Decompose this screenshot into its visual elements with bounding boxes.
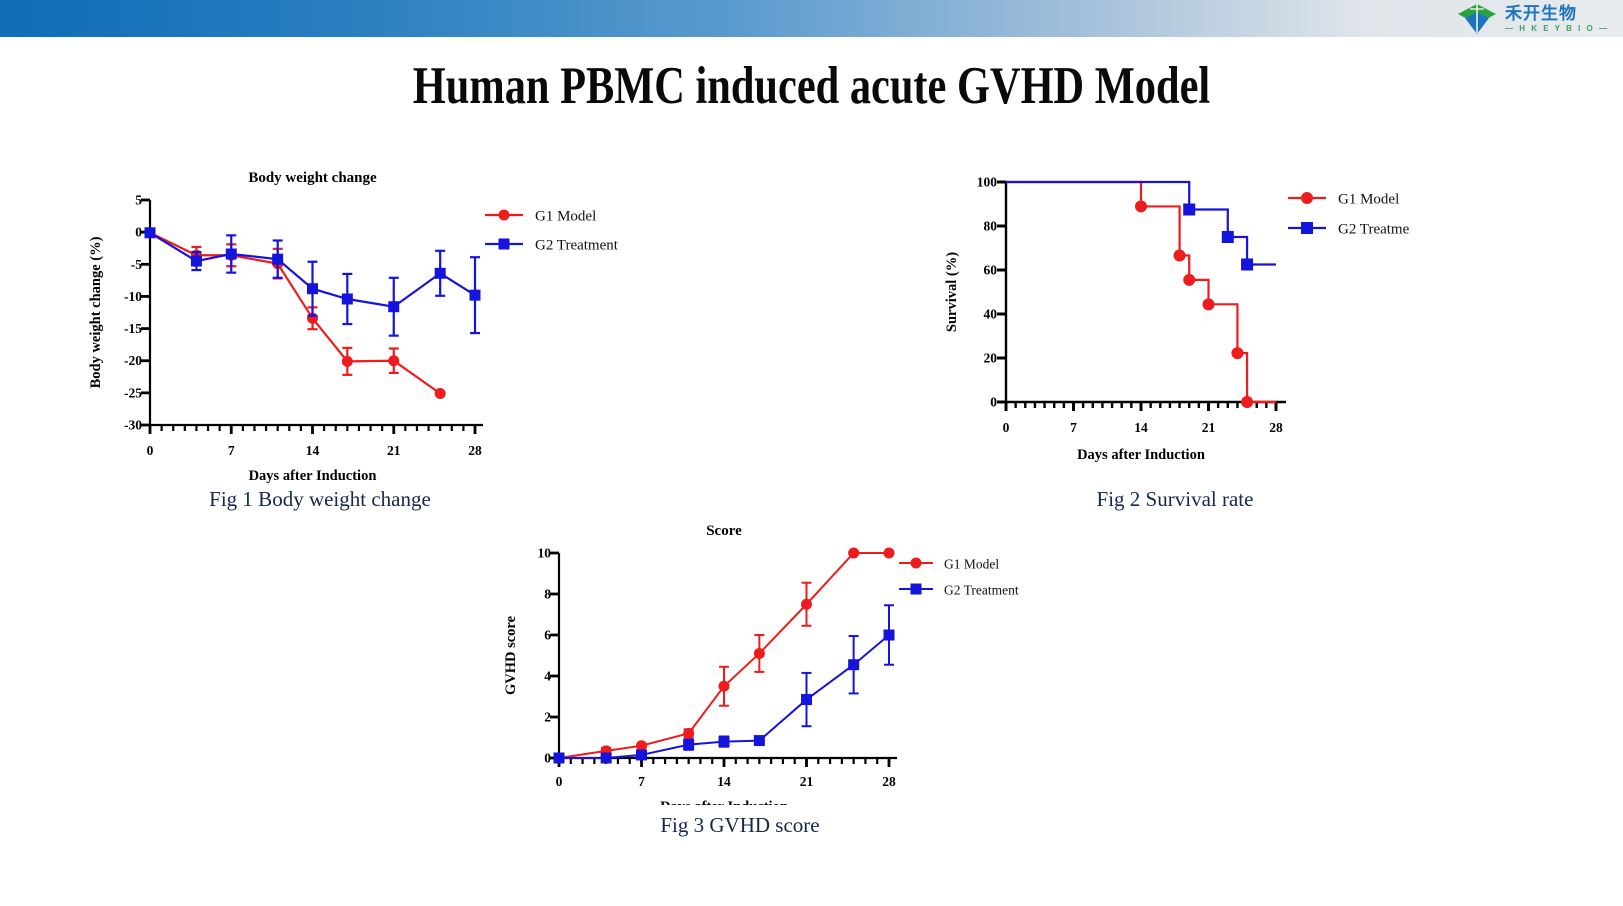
legend-marker <box>499 210 510 221</box>
legend-marker <box>499 239 510 250</box>
figure-1-caption: Fig 1 Body weight change <box>130 487 510 512</box>
logo-leaf-icon <box>1456 2 1498 36</box>
y-tick-label: 2 <box>544 710 551 725</box>
data-point <box>1183 204 1195 216</box>
x-tick-label: 21 <box>387 443 401 458</box>
x-tick-label: 21 <box>1202 420 1216 435</box>
logo-text-cn: 禾开生物 <box>1505 6 1609 23</box>
data-point <box>307 283 318 294</box>
y-tick-label: 20 <box>984 351 998 366</box>
y-tick-label: -25 <box>124 385 142 400</box>
y-tick-label: -20 <box>124 353 142 368</box>
data-point <box>719 736 730 747</box>
chart-title: Score <box>706 523 742 539</box>
chart-legend: G1 ModelG2 Treatment <box>485 209 619 254</box>
data-point <box>683 728 694 739</box>
data-point <box>801 599 812 610</box>
x-tick-label: 0 <box>147 443 154 458</box>
y-tick-label: 6 <box>544 628 551 643</box>
data-point <box>1222 231 1234 243</box>
y-tick-label: 0 <box>135 225 142 240</box>
data-point <box>848 659 859 670</box>
x-axis-label: Days after Induction <box>660 799 788 805</box>
y-tick-label: 0 <box>544 751 551 766</box>
data-point <box>1174 249 1186 261</box>
data-point <box>554 753 565 764</box>
figure-gvhd-score-chart: Score071421280246810Days after Induction… <box>495 505 1075 805</box>
data-point <box>1203 298 1215 310</box>
data-point <box>435 388 446 399</box>
data-point <box>191 256 202 267</box>
y-axis-label: Survival (%) <box>944 252 960 332</box>
legend-label: G2 Treatment <box>535 238 619 254</box>
x-tick-label: 7 <box>638 774 645 789</box>
figure-2-caption: Fig 2 Survival rate <box>995 487 1355 512</box>
data-point <box>884 630 895 641</box>
data-point <box>342 294 353 305</box>
series-line <box>1006 182 1276 402</box>
data-point <box>145 227 156 238</box>
data-point <box>342 356 353 367</box>
y-tick-label: 10 <box>538 546 552 561</box>
y-tick-label: 40 <box>984 307 998 322</box>
x-tick-label: 7 <box>1070 420 1077 435</box>
x-axis-label: Days after Induction <box>249 468 377 484</box>
x-tick-label: 14 <box>306 443 320 458</box>
data-point <box>754 648 765 659</box>
x-tick-label: 28 <box>468 443 482 458</box>
data-point <box>636 749 647 760</box>
x-tick-label: 14 <box>717 774 731 789</box>
legend-label: G2 Treatment <box>944 583 1019 598</box>
x-axis-label: Days after Induction <box>1077 447 1205 463</box>
series-g1-model <box>1006 182 1276 408</box>
y-tick-label: -10 <box>124 289 142 304</box>
figure-survival-chart: 07142128020406080100Days after Induction… <box>930 160 1410 480</box>
legend-marker <box>911 558 922 569</box>
y-tick-label: 5 <box>135 193 142 208</box>
x-tick-label: 28 <box>882 774 896 789</box>
x-tick-label: 28 <box>1269 420 1283 435</box>
y-tick-label: 60 <box>984 263 998 278</box>
x-tick-label: 7 <box>228 443 235 458</box>
chart-legend: G1 ModelG2 Treatment <box>1288 192 1410 238</box>
page-title: Human PBMC induced acute GVHD Model <box>162 56 1460 116</box>
data-point <box>1241 396 1253 408</box>
figure-3-caption: Fig 3 GVHD score <box>560 813 920 838</box>
y-tick-label: 8 <box>544 587 551 602</box>
data-point <box>388 301 399 312</box>
data-point <box>226 249 237 260</box>
company-logo: 禾开生物 — H K E Y B I O — <box>1456 2 1609 36</box>
data-point <box>884 548 895 559</box>
legend-marker <box>911 584 922 595</box>
data-point <box>719 681 730 692</box>
legend-marker <box>1301 222 1313 234</box>
y-tick-label: -30 <box>124 418 142 433</box>
series-g1-model <box>554 548 895 764</box>
chart-title: Body weight change <box>248 170 377 186</box>
header-gradient-bar <box>0 0 1623 37</box>
figure-body-weight-chart: Body weight change0714212850-5-10-15-20-… <box>70 155 690 485</box>
legend-label: G2 Treatment <box>1338 222 1410 238</box>
y-tick-label: 100 <box>977 175 998 190</box>
data-point <box>1231 347 1243 359</box>
series-line <box>559 553 889 758</box>
logo-text-en: — H K E Y B I O — <box>1505 25 1609 33</box>
data-point <box>1241 259 1253 271</box>
y-tick-label: -15 <box>124 321 142 336</box>
y-axis-label: GVHD score <box>503 615 519 695</box>
x-tick-label: 21 <box>800 774 814 789</box>
data-point <box>754 735 765 746</box>
data-point <box>272 254 283 265</box>
y-axis-label: Body weight change (%) <box>88 236 104 388</box>
data-point <box>801 694 812 705</box>
legend-label: G1 Model <box>944 557 999 572</box>
legend-label: G1 Model <box>535 209 596 225</box>
data-point <box>435 268 446 279</box>
y-tick-label: -5 <box>131 257 142 272</box>
legend-marker <box>1301 192 1313 204</box>
x-tick-label: 0 <box>556 774 563 789</box>
x-tick-label: 0 <box>1003 420 1010 435</box>
data-point <box>470 290 481 301</box>
y-tick-label: 4 <box>544 669 551 684</box>
series-g1-model <box>145 227 446 399</box>
x-tick-label: 14 <box>1134 420 1148 435</box>
data-point <box>388 355 399 366</box>
data-point <box>683 739 694 750</box>
data-point <box>1183 274 1195 286</box>
data-point <box>1135 200 1147 212</box>
legend-label: G1 Model <box>1338 192 1399 208</box>
y-tick-label: 80 <box>984 219 998 234</box>
y-tick-label: 0 <box>990 395 997 410</box>
data-point <box>601 753 612 764</box>
chart-legend: G1 ModelG2 Treatment <box>899 557 1019 598</box>
data-point <box>848 548 859 559</box>
